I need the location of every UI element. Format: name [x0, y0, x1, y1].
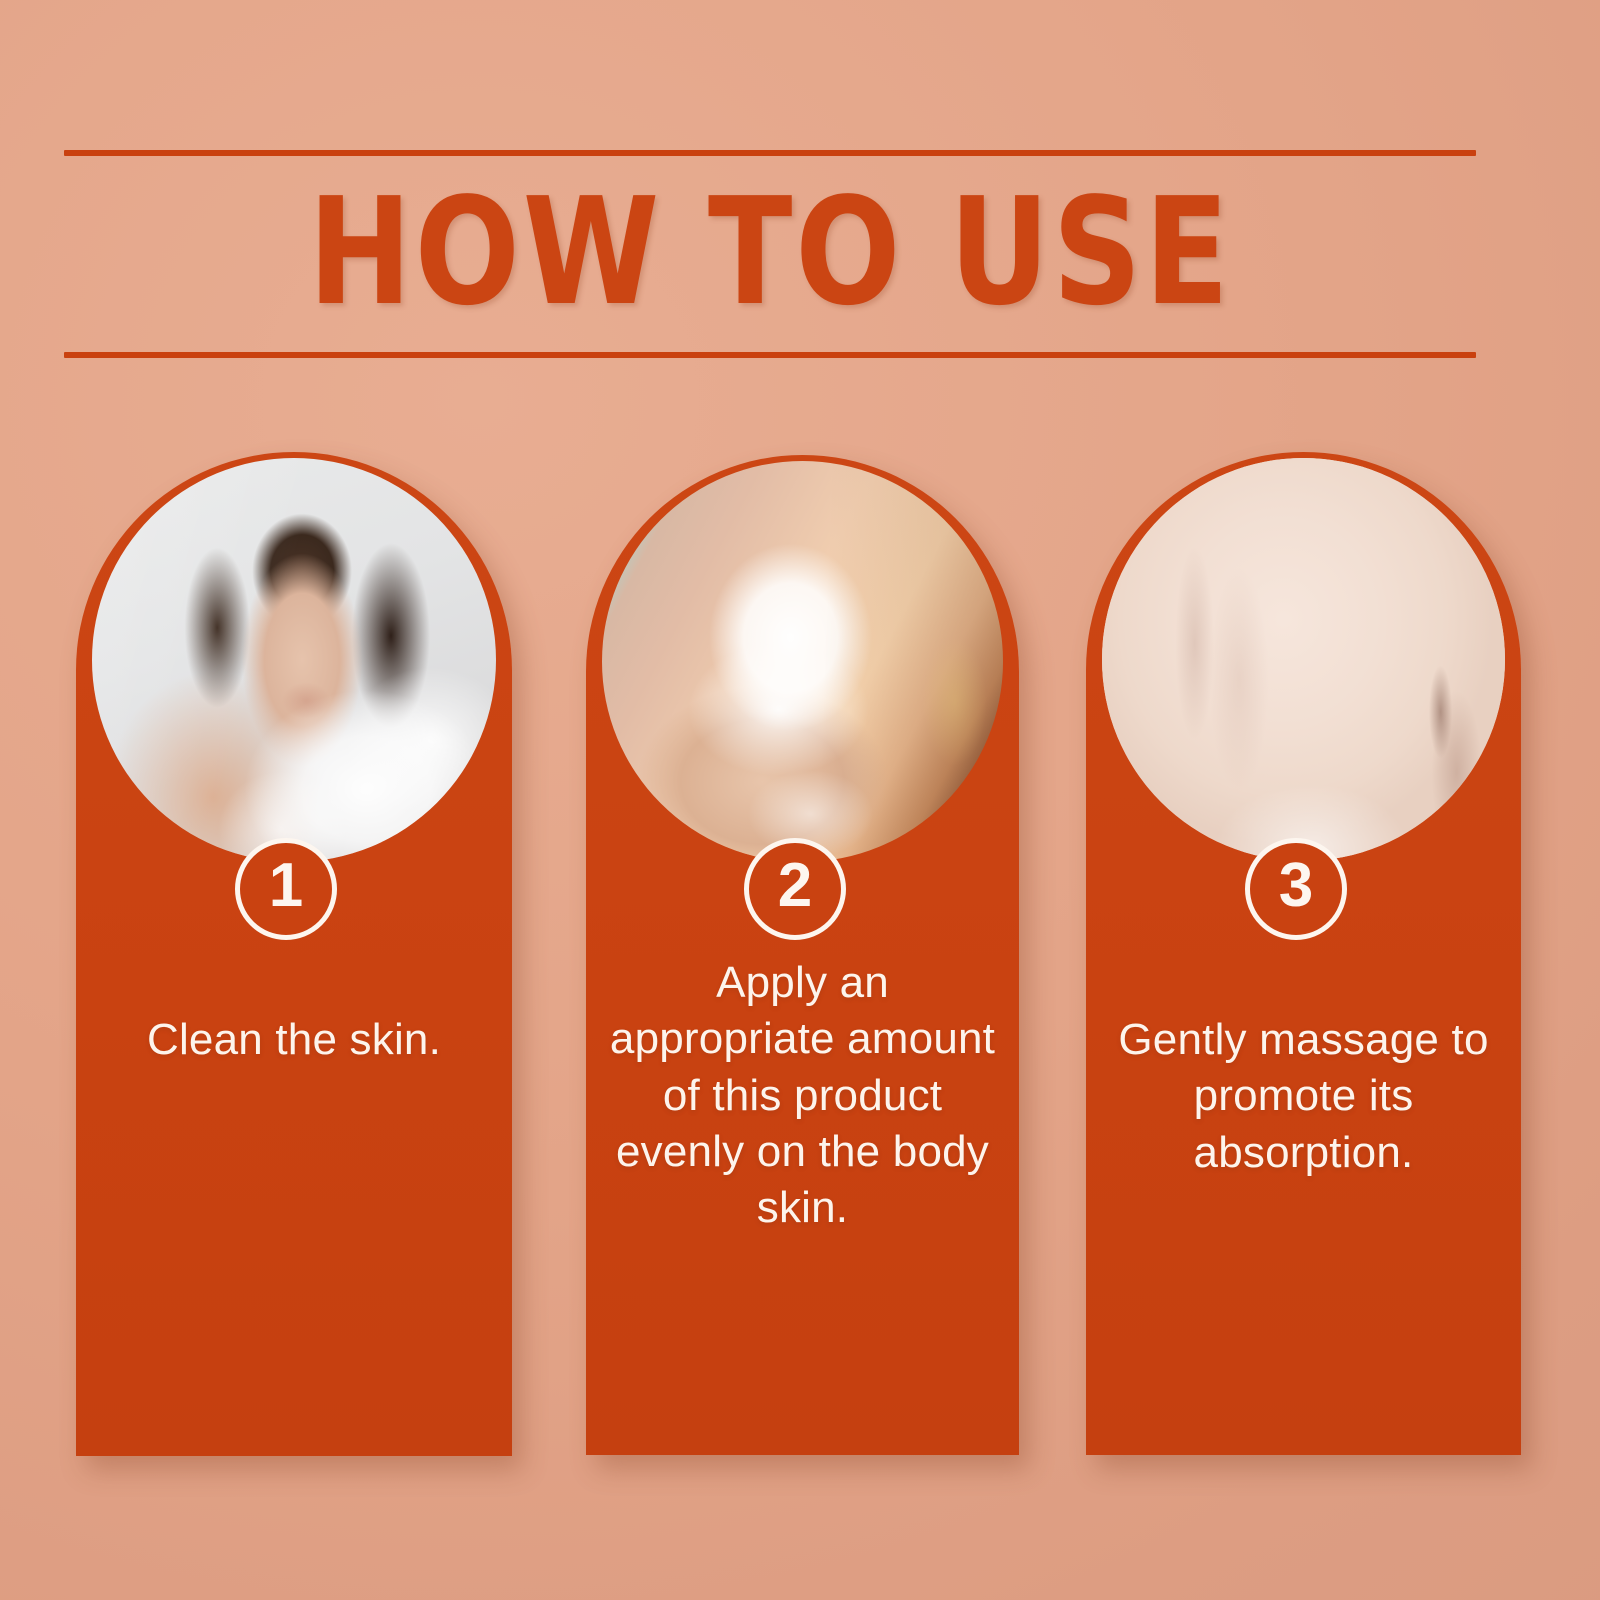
step-card-3[interactable]: 3 Gently massage to promote its absorpti… [1086, 452, 1521, 1455]
step-caption-3: Gently massage to promote its absorption… [1108, 1012, 1499, 1181]
smooth-back-skin-image [1102, 458, 1505, 861]
woman-showering-image [92, 458, 496, 862]
cream-applied-to-leg-photo [602, 461, 1003, 862]
step-number-badge-3: 3 [1245, 838, 1347, 940]
step-caption-1: Clean the skin. [98, 1012, 490, 1068]
smooth-back-skin-photo [1102, 458, 1505, 861]
woman-showering-photo [92, 458, 496, 862]
step-number-3: 3 [1279, 855, 1313, 917]
cream-applied-to-leg-image [602, 461, 1003, 862]
step-card-1[interactable]: 1 Clean the skin. [76, 452, 512, 1456]
step-number-badge-2: 2 [744, 838, 846, 940]
steps-container: 1 Clean the skin. 2 Apply an appropriate… [0, 0, 1600, 1600]
step-number-badge-1: 1 [235, 838, 337, 940]
step-number-1: 1 [269, 855, 303, 917]
step-caption-2: Apply an appropriate amount of this prod… [608, 955, 997, 1237]
step-number-2: 2 [778, 855, 812, 917]
step-card-2[interactable]: 2 Apply an appropriate amount of this pr… [586, 455, 1019, 1455]
